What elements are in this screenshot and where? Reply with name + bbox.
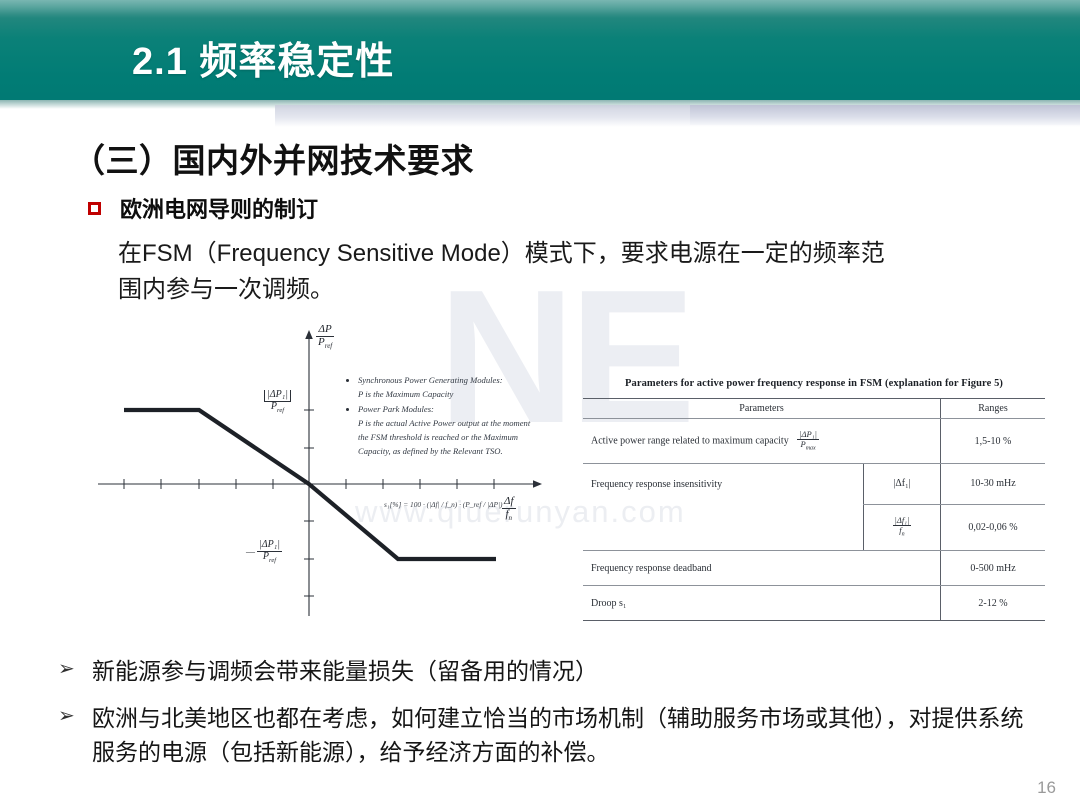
legend-item-1: Synchronous Power Generating Modules: P … [344,374,596,402]
x-axis-label: Δf fn [502,496,516,522]
table-row: Active power range related to maximum ca… [583,419,1045,464]
row4-parameter-label: Frequency response deadband [583,551,941,586]
figure-legend: Synchronous Power Generating Modules: P … [344,374,596,459]
row5-parameter-label: Droop s₁ [583,586,941,621]
page-number: 16 [1037,778,1056,798]
x-axis-label-numerator: Δf [502,496,516,509]
row1-symbol: |ΔP₁| Pmax [797,430,819,452]
row1-parameter-label: Active power range related to maximum ca… [591,435,789,446]
arrow-bullet-icon-2: ➢ [58,702,92,731]
arrow-bullet-icon: ➢ [58,655,92,684]
sub-bullet-row: 欧洲电网导则的制订 [88,192,318,224]
bottom-bullet-list: ➢ 新能源参与调频会带来能量损失（留备用的情况） ➢ 欧洲与北美地区也都在考虑，… [58,655,1038,783]
row3-range: 0,02-0,06 % [941,504,1046,551]
droop-curve-svg [96,318,596,618]
header-gloss-overlay [0,0,1080,18]
slide-canvas: 2.1 频率稳定性 NE www.qiuerunyan.com （三）国内外并网… [0,0,1080,810]
legend-item-1-title: Synchronous Power Generating Modules: [358,374,596,388]
bottom-bullet-text-2: 欧洲与北美地区也都在考虑，如何建立恰当的市场机制（辅助服务市场或其他），对提供系… [92,702,1038,769]
legend-item-1-body: P is the Maximum Capacity [358,388,596,402]
row2-symbol: |Δf₁| [864,464,941,505]
legend-item-2-title: Power Park Modules: [358,403,596,417]
list-item: ➢ 欧洲与北美地区也都在考虑，如何建立恰当的市场机制（辅助服务市场或其他），对提… [58,702,1038,769]
y-neg-tick-numerator: |ΔP₁| [257,540,282,552]
section-heading: （三）国内外并网技术要求 [72,134,474,182]
y-neg-tick-minus-sign: — [246,547,255,557]
red-square-marker-icon [88,202,101,215]
row4-range: 0-500 mHz [941,551,1046,586]
y-neg-tick-denominator: Pref [257,552,282,565]
row3-parameter-label [583,504,864,551]
table-row: Frequency response insensitivity |Δf₁| 1… [583,464,1045,505]
parameters-table: Parameters Ranges Active power range rel… [583,398,1045,621]
table-header-row: Parameters Ranges [583,399,1045,419]
legend-item-2: Power Park Modules: P is the actual Acti… [344,403,596,459]
droop-equation-text: s₁[%] = 100 · (|Δf| / f_n) · (P_ref / |Δ… [384,500,503,509]
droop-curve-figure: ΔP Pref Δf fn |ΔP₁| Pref — |ΔP₁| Pref [96,318,596,618]
y-pos-tick-numerator: |ΔP₁| [264,390,291,402]
y-negative-tick-label: — |ΔP₁| Pref [246,540,282,564]
table-row: Droop s₁ 2-12 % [583,586,1045,621]
parameters-table-block: Parameters for active power frequency re… [583,378,1045,621]
table-row: Frequency response deadband 0-500 mHz [583,551,1045,586]
y-pos-tick-denominator: Pref [264,402,291,415]
legend-item-2-body-line2: the FSM threshold is reached or the Maxi… [358,431,596,445]
list-item: ➢ 新能源参与调频会带来能量损失（留备用的情况） [58,655,1038,688]
x-axis-label-denominator: fn [502,509,516,523]
y-axis-arrow [305,330,313,339]
y-positive-tick-label: |ΔP₁| Pref [264,390,291,414]
y-axis-label: ΔP Pref [316,324,334,350]
legend-bullet-dot-icon [346,379,349,382]
legend-bullet-dot-icon-2 [346,408,349,411]
row3-symbol: |Δf₁| fn [864,504,941,551]
header-underband-secondary [690,105,1080,125]
legend-item-2-body-line1: P is the actual Active Power output at t… [358,417,596,431]
table-col-header-parameters: Parameters [583,399,941,419]
row1-range: 1,5-10 % [941,419,1046,464]
y-axis-label-denominator: Pref [316,337,334,351]
row5-range: 2-12 % [941,586,1046,621]
droop-equation: s₁[%] = 100 · (|Δf| / f_n) · (P_ref / |Δ… [384,500,503,509]
table-title: Parameters for active power frequency re… [583,378,1045,389]
x-axis-arrow [533,480,542,488]
row2-range: 10-30 mHz [941,464,1046,505]
legend-item-2-body-line3: Capacity, as defined by the Relevant TSO… [358,445,596,459]
page-title: 2.1 频率稳定性 [132,30,394,85]
sub-bullet-label: 欧洲电网导则的制订 [120,192,318,224]
row2-parameter-label: Frequency response insensitivity [583,464,864,505]
table-col-header-ranges: Ranges [941,399,1046,419]
table-row: |Δf₁| fn 0,02-0,06 % [583,504,1045,551]
body-paragraph: 在FSM（Frequency Sensitive Mode）模式下，要求电源在一… [118,236,908,309]
bottom-bullet-text-1: 新能源参与调频会带来能量损失（留备用的情况） [92,655,598,688]
